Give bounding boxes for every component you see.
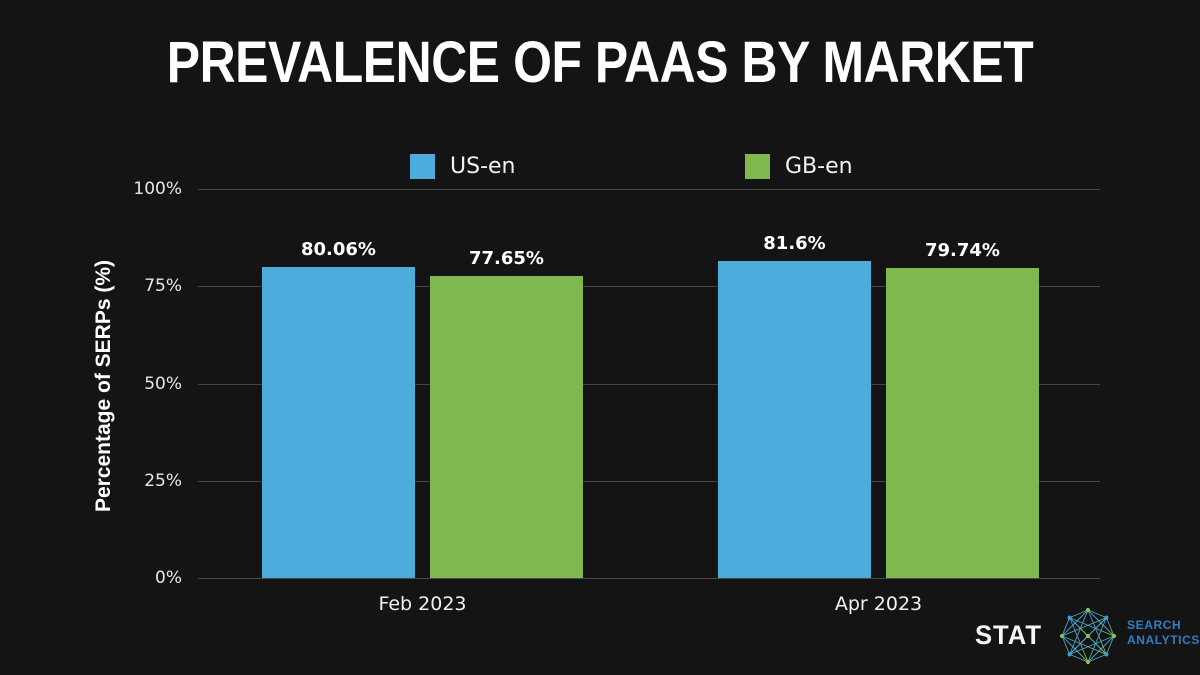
logo-tagline-line1: SEARCH — [1127, 618, 1200, 633]
bar-gb-en-feb-2023[interactable] — [430, 276, 583, 578]
y-tick-label: 25% — [110, 473, 182, 490]
x-tick-label: Feb 2023 — [262, 593, 583, 615]
gridline — [198, 189, 1100, 190]
chart-slide: PREVALENCE OF PAAS BY MARKET US-en GB-en… — [0, 0, 1200, 675]
y-axis-tick-labels: 100%75%50%25%0% — [118, 189, 190, 578]
y-tick-label: 75% — [110, 278, 182, 295]
legend-label-us-en: US-en — [450, 154, 515, 179]
legend-swatch-us-en — [410, 154, 435, 179]
legend-label-gb-en: GB-en — [785, 154, 853, 179]
logo-tagline: SEARCH ANALYTICS — [1127, 618, 1200, 648]
bar-us-en-feb-2023[interactable] — [262, 267, 415, 578]
y-tick-label: 0% — [110, 570, 182, 587]
y-tick-label: 50% — [110, 376, 182, 393]
logo-wordmark: STAT — [975, 620, 1042, 651]
gridline — [198, 578, 1100, 579]
y-tick-label: 100% — [110, 181, 182, 198]
bar-gb-en-apr-2023[interactable] — [886, 268, 1039, 578]
bar-value-label: 77.65% — [430, 248, 583, 269]
bar-value-label: 79.74% — [886, 240, 1039, 261]
legend-item-us-en[interactable]: US-en — [410, 150, 515, 182]
logo-tagline-line2: ANALYTICS — [1127, 633, 1200, 648]
bar-value-label: 81.6% — [718, 233, 871, 254]
legend-swatch-gb-en — [745, 154, 770, 179]
network-polygon-icon — [1057, 605, 1119, 667]
bar-value-label: 80.06% — [262, 239, 415, 260]
plot-area: 80.06%77.65%81.6%79.74% — [198, 189, 1100, 578]
bar-us-en-apr-2023[interactable] — [718, 261, 871, 578]
legend-item-gb-en[interactable]: GB-en — [745, 150, 853, 182]
chart-legend: US-en GB-en — [400, 150, 880, 182]
stat-search-analytics-logo: STAT SEARCH ANALYTICS — [975, 605, 1190, 667]
page-title: PREVALENCE OF PAAS BY MARKET — [84, 33, 1116, 93]
